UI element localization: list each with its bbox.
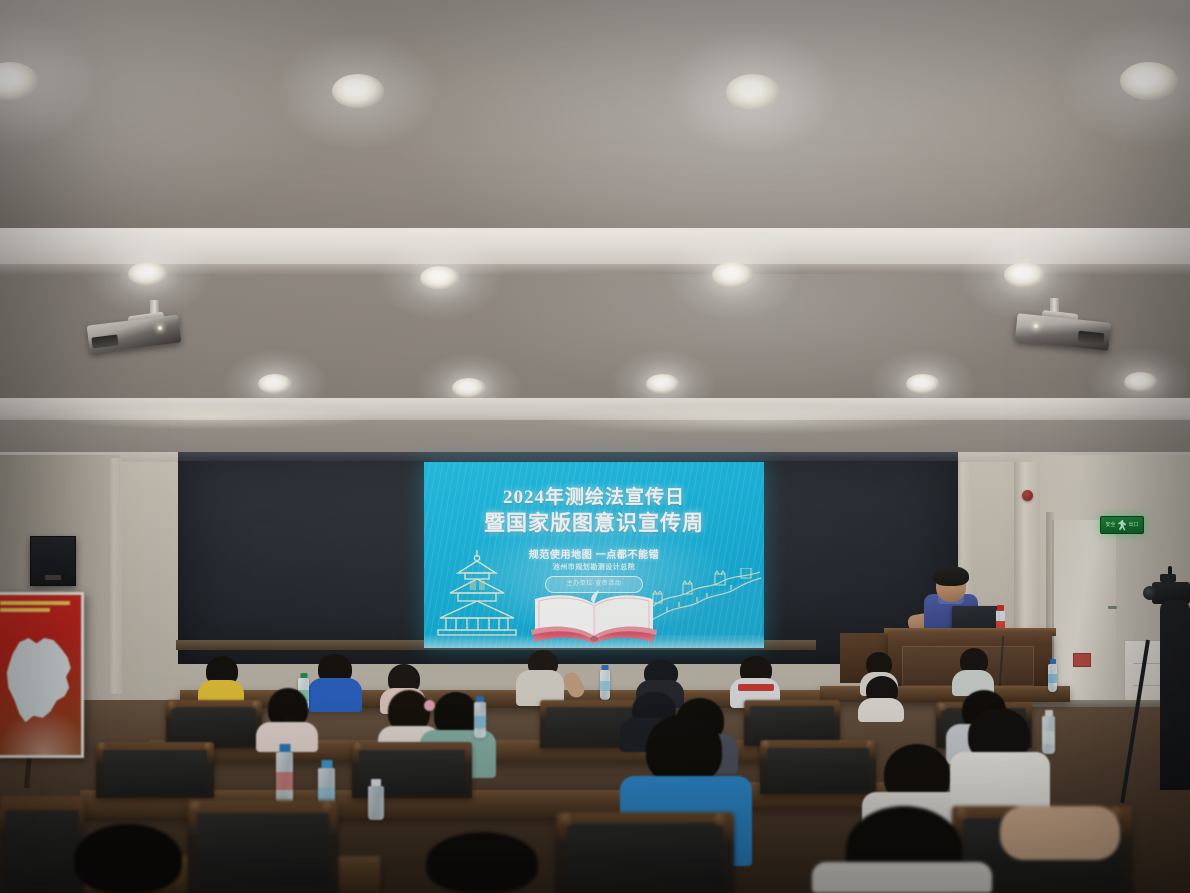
camera-hood [1160, 574, 1176, 582]
chair-knob [98, 742, 107, 751]
downlight [452, 378, 486, 398]
water-bottle [1042, 716, 1055, 754]
chair-knob [252, 700, 261, 709]
lecture-hall-photo: 2024年测绘法宣传日 暨国家版图意识宣传周 规范使用地图 一点都不能错 池州市… [0, 0, 1190, 893]
person-torso [858, 698, 904, 722]
person-hair [426, 832, 538, 893]
chair-back [556, 812, 734, 893]
person-hair [646, 714, 722, 784]
chair-knob [560, 812, 574, 826]
wall-speaker [30, 536, 76, 586]
chair-knob [714, 812, 728, 826]
downlight [1004, 262, 1046, 288]
person-hair [74, 824, 182, 893]
chair-back [96, 742, 214, 798]
cove-light-glow [40, 404, 380, 430]
camera-lens-icon [1143, 586, 1157, 600]
desk-row [820, 686, 1070, 702]
downlight [906, 374, 940, 394]
door-handle[interactable] [1108, 606, 1117, 609]
downlight [0, 62, 38, 100]
fire-alarm-icon [1022, 490, 1033, 501]
slide-floor-glow [424, 634, 764, 648]
ceiling-projector [86, 300, 192, 356]
chair-knob [956, 806, 970, 820]
speaker-hair [933, 566, 969, 586]
person-torso [812, 862, 992, 893]
ceiling-upper-plane [0, 0, 1190, 232]
water-bottle [368, 786, 384, 820]
chair-knob [866, 740, 875, 749]
person-torso [950, 752, 1050, 812]
person-torso [308, 678, 362, 712]
downlight [420, 266, 460, 290]
exit-sign: 安全 出口 [1100, 516, 1144, 534]
downlight [1120, 62, 1178, 100]
poster-glare [0, 707, 81, 755]
downlight [726, 74, 780, 110]
temple-of-heaven-icon [434, 548, 520, 640]
downlight [646, 374, 680, 394]
water-bottle [1048, 664, 1057, 692]
chair-back [166, 700, 262, 748]
ceiling-projector [1012, 298, 1118, 354]
downlight [128, 262, 168, 286]
slide-title-line2: 暨国家版图意识宣传周 [424, 507, 764, 537]
projected-slide: 2024年测绘法宣传日 暨国家版图意识宣传周 规范使用地图 一点都不能错 池州市… [424, 462, 764, 648]
water-bottle [474, 702, 486, 738]
downlight [332, 74, 384, 108]
downlight [1124, 372, 1158, 392]
wall-pillar [108, 458, 122, 694]
slide-title-line1: 2024年测绘法宣传日 [424, 482, 764, 509]
fire-equipment-box [1073, 653, 1091, 667]
chair-knob [354, 742, 363, 751]
water-bottle [276, 752, 293, 804]
person-arm [1000, 806, 1120, 860]
downlight [258, 374, 292, 394]
chair-knob [938, 702, 947, 711]
exit-sign-text-right: 出口 [1129, 523, 1139, 528]
chair-back [760, 740, 876, 794]
chair-knob [762, 740, 771, 749]
camera-operator [1160, 600, 1190, 790]
poster-title-bars [0, 601, 70, 615]
running-man-icon [1118, 520, 1127, 531]
chair-back [0, 796, 84, 893]
person-shirt-stripe [738, 684, 774, 691]
chair-knob [168, 700, 177, 709]
chair-knob [204, 742, 213, 751]
cove-light-glow [540, 404, 960, 434]
downlight [712, 262, 754, 288]
chair-back [188, 800, 338, 893]
water-bottle [600, 670, 610, 700]
chair-knob [190, 800, 203, 813]
exit-sign-text-left: 安全 [1105, 523, 1115, 528]
chair-knob [322, 800, 335, 813]
china-map-poster [0, 592, 84, 758]
